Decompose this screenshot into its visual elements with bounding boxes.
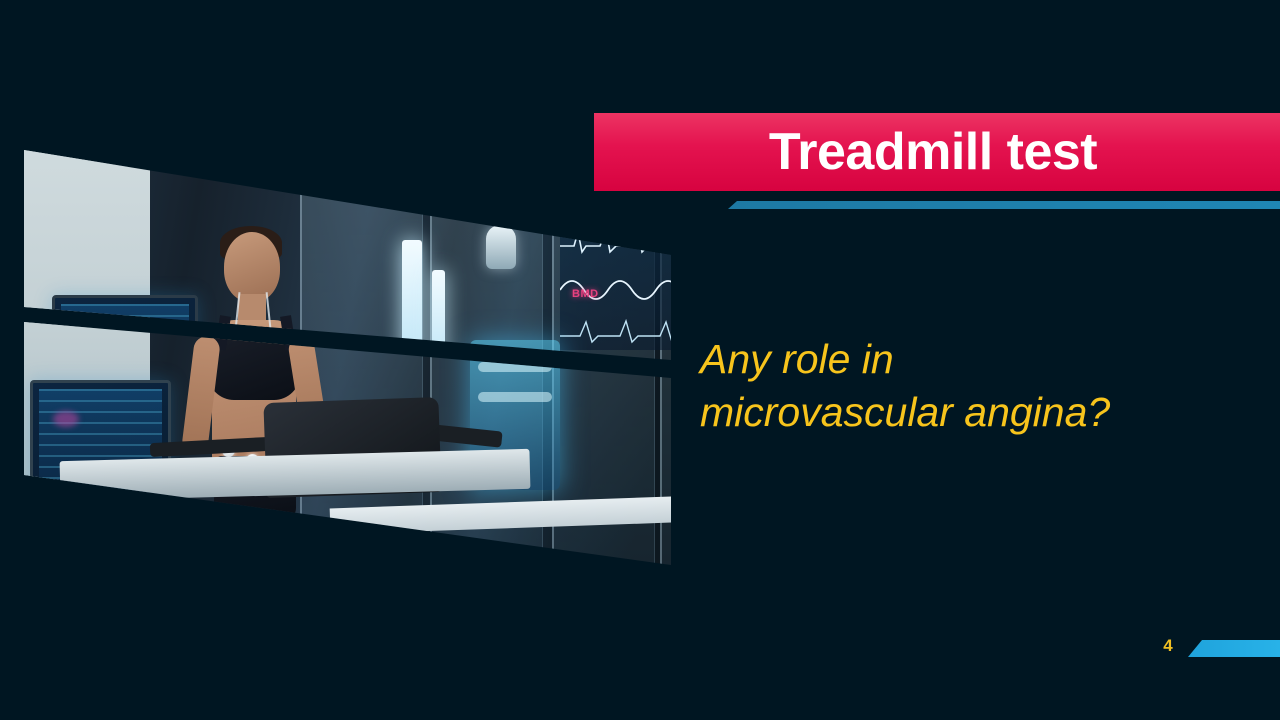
overhead-fixture (486, 225, 516, 269)
head (224, 232, 280, 302)
tube-light (402, 240, 422, 360)
tube-light (432, 270, 445, 365)
ecg-waveform-icon (560, 222, 700, 256)
footer-accent-bar (1188, 640, 1280, 657)
page-number: 4 (1156, 636, 1180, 656)
subtitle-text: Any role in microvascular angina? (700, 333, 1245, 440)
subtitle-line-2: microvascular angina? (700, 386, 1245, 439)
title-accent-line (728, 201, 1280, 209)
screen-glow (53, 411, 79, 427)
slide-canvas: BMD (0, 0, 1280, 720)
ecg-waveform-icon (560, 310, 700, 344)
ecg-monitor-panel (560, 210, 700, 350)
monitor-readout-label: BMD (572, 288, 599, 300)
title-banner: Treadmill test (594, 113, 1280, 191)
sports-bra (208, 328, 300, 400)
page-title: Treadmill test (594, 122, 1280, 182)
subtitle-line-1: Any role in (700, 333, 1245, 386)
